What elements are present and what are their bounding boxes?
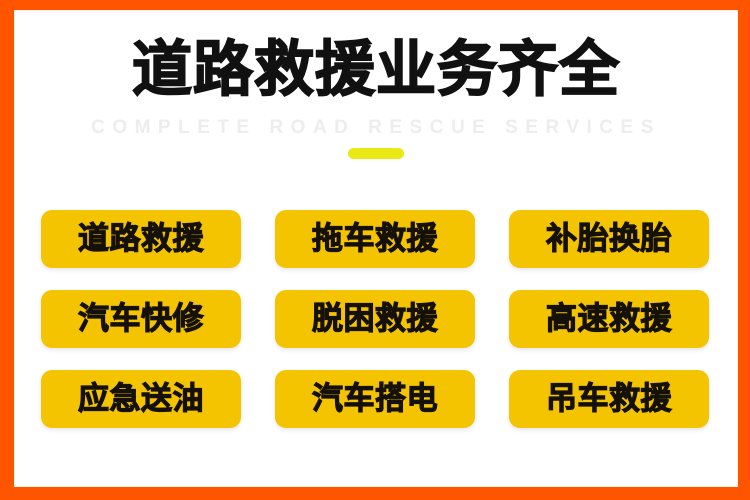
service-chip-tow-rescue[interactable]: 拖车救援 bbox=[275, 210, 475, 268]
service-chip-label: 补胎换胎 bbox=[546, 222, 672, 256]
poster-canvas: 道路救援业务齐全 COMPLETE ROAD RESCUE SERVICES 道… bbox=[14, 10, 738, 487]
poster-header: 道路救援业务齐全 COMPLETE ROAD RESCUE SERVICES bbox=[14, 10, 738, 190]
service-chip-label: 汽车快修 bbox=[78, 302, 204, 336]
service-chip-label: 应急送油 bbox=[78, 382, 204, 416]
service-chip-quick-car-repair[interactable]: 汽车快修 bbox=[41, 290, 241, 348]
poster-frame: 道路救援业务齐全 COMPLETE ROAD RESCUE SERVICES 道… bbox=[0, 0, 750, 500]
service-chip-emergency-fuel-delivery[interactable]: 应急送油 bbox=[41, 370, 241, 428]
service-chip-road-rescue[interactable]: 道路救援 bbox=[41, 210, 241, 268]
service-grid: 道路救援 拖车救援 补胎换胎 汽车快修 脱困救援 高速救援 应急送油 汽车搭电 bbox=[41, 210, 738, 428]
service-chip-extrication-rescue[interactable]: 脱困救援 bbox=[275, 290, 475, 348]
accent-underline bbox=[348, 148, 404, 159]
service-chip-label: 脱困救援 bbox=[312, 302, 438, 336]
service-chip-label: 汽车搭电 bbox=[312, 382, 438, 416]
service-chip-crane-rescue[interactable]: 吊车救援 bbox=[509, 370, 709, 428]
service-chip-label: 拖车救援 bbox=[312, 222, 438, 256]
service-chip-label: 吊车救援 bbox=[546, 382, 672, 416]
service-chip-label: 道路救援 bbox=[78, 222, 204, 256]
page-title: 道路救援业务齐全 bbox=[14, 38, 738, 102]
service-chip-label: 高速救援 bbox=[546, 302, 672, 336]
page-subtitle: COMPLETE ROAD RESCUE SERVICES bbox=[14, 116, 738, 140]
service-chip-tire-repair-change[interactable]: 补胎换胎 bbox=[509, 210, 709, 268]
service-chip-highway-rescue[interactable]: 高速救援 bbox=[509, 290, 709, 348]
service-chip-jump-start[interactable]: 汽车搭电 bbox=[275, 370, 475, 428]
